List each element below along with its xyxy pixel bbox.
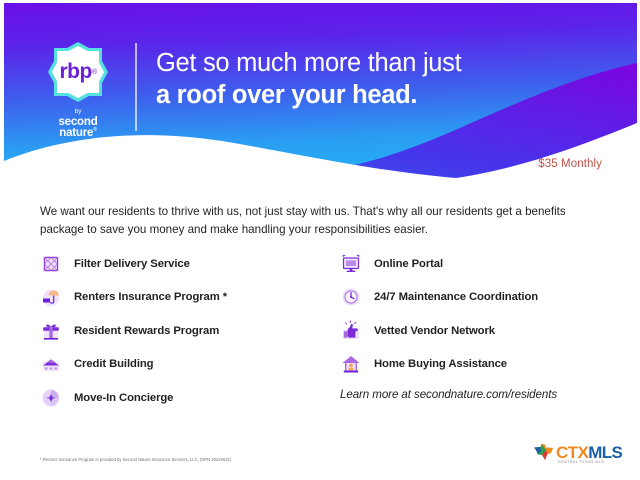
price-label: $35 Monthly [538,158,602,170]
benefit-label: Home Buying Assistance [374,358,507,370]
benefit-item: Filter Delivery Service [40,247,340,281]
gift-icon [40,320,62,342]
benefit-item: Home Buying Assistance [340,348,605,382]
ctxmls-logo: CTXMLS CENTRAL TEXAS MLS [532,441,630,473]
benefit-label: Filter Delivery Service [74,258,190,270]
credit-card-icon [40,353,62,375]
clock-icon [340,286,362,308]
umbrella-icon [40,286,62,308]
benefit-item: 24/7 Maintenance Coordination [340,281,605,315]
house-icon [340,353,362,375]
concierge-icon [40,387,62,409]
logo-brand-name: second nature® [37,117,119,140]
benefit-label: 24/7 Maintenance Coordination [374,291,538,303]
benefit-label: Vetted Vendor Network [374,325,495,337]
benefits-column-left: Filter Delivery Service Renters Insuranc… [40,247,340,415]
benefit-label: Resident Rewards Program [74,325,219,337]
header-banner: rbp® by second nature® Get so much more … [4,3,637,181]
header-divider [135,43,137,131]
disclaimer-text: * Renters Insurance Program is provided … [40,457,231,462]
benefit-label: Move-In Concierge [74,392,173,404]
texas-shape-icon [532,442,556,462]
intro-paragraph: We want our residents to thrive with us,… [40,203,600,240]
benefit-item: Renters Insurance Program * [40,281,340,315]
benefit-label: Online Portal [374,258,443,270]
headline: Get so much more than just a roof over y… [156,47,461,111]
flyer-card: rbp® by second nature® Get so much more … [0,0,640,480]
benefit-item: Online Portal [340,247,605,281]
benefit-label: Credit Building [74,358,153,370]
learn-more-text: Learn more at secondnature.com/residents [340,388,557,401]
benefit-item: Vetted Vendor Network [340,314,605,348]
monitor-icon [340,253,362,275]
benefit-item: Resident Rewards Program [40,314,340,348]
ctxmls-tagline: CENTRAL TEXAS MLS [558,460,604,464]
ctxmls-wordmark: CTXMLS [556,444,622,461]
rbp-badge-text: rbp® [45,39,111,105]
rbp-badge-icon: rbp® [45,39,111,105]
benefit-label: Renters Insurance Program * [74,291,227,303]
filter-icon [40,253,62,275]
benefit-item: Move-In Concierge [40,381,340,415]
rbp-logo: rbp® by second nature® [37,39,119,140]
benefit-item: Credit Building [40,348,340,382]
headline-line-1: Get so much more than just [156,47,461,79]
thumbs-up-icon [340,320,362,342]
benefits-column-right: Online Portal 24/7 Maintenance Coordinat… [340,247,605,381]
headline-line-2: a roof over your head. [156,79,461,111]
